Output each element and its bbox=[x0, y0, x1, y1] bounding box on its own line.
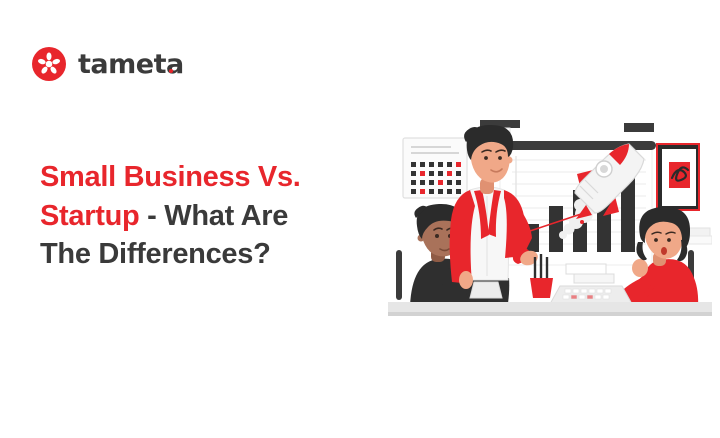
brand-accent-dot-icon bbox=[169, 69, 173, 73]
business-meeting-illustration bbox=[388, 100, 712, 330]
headline-line-1: Small Business Vs. bbox=[40, 161, 301, 193]
wall-calendar-icon bbox=[403, 138, 467, 198]
page-title: Small Business Vs. Startup - What Are Th… bbox=[40, 158, 380, 274]
laptop-icon bbox=[470, 282, 502, 298]
keyboard-icon bbox=[550, 286, 632, 304]
banner-root: tameta Small Business Vs. Startup - What… bbox=[0, 0, 720, 438]
brand-wordmark-text: tameta bbox=[78, 49, 184, 80]
brand-logo[interactable]: tameta bbox=[32, 47, 184, 81]
brand-wordmark: tameta bbox=[78, 51, 184, 78]
headline-line-3: The Differences? bbox=[40, 238, 271, 270]
paper-stack-icon bbox=[566, 264, 614, 283]
headline-line-2-dark: - What Are bbox=[139, 200, 288, 232]
flower-asterisk-icon bbox=[32, 47, 66, 81]
headline-line-2-red: Startup bbox=[40, 200, 139, 232]
conference-table-icon bbox=[388, 302, 712, 316]
framed-picture-icon bbox=[656, 143, 700, 211]
